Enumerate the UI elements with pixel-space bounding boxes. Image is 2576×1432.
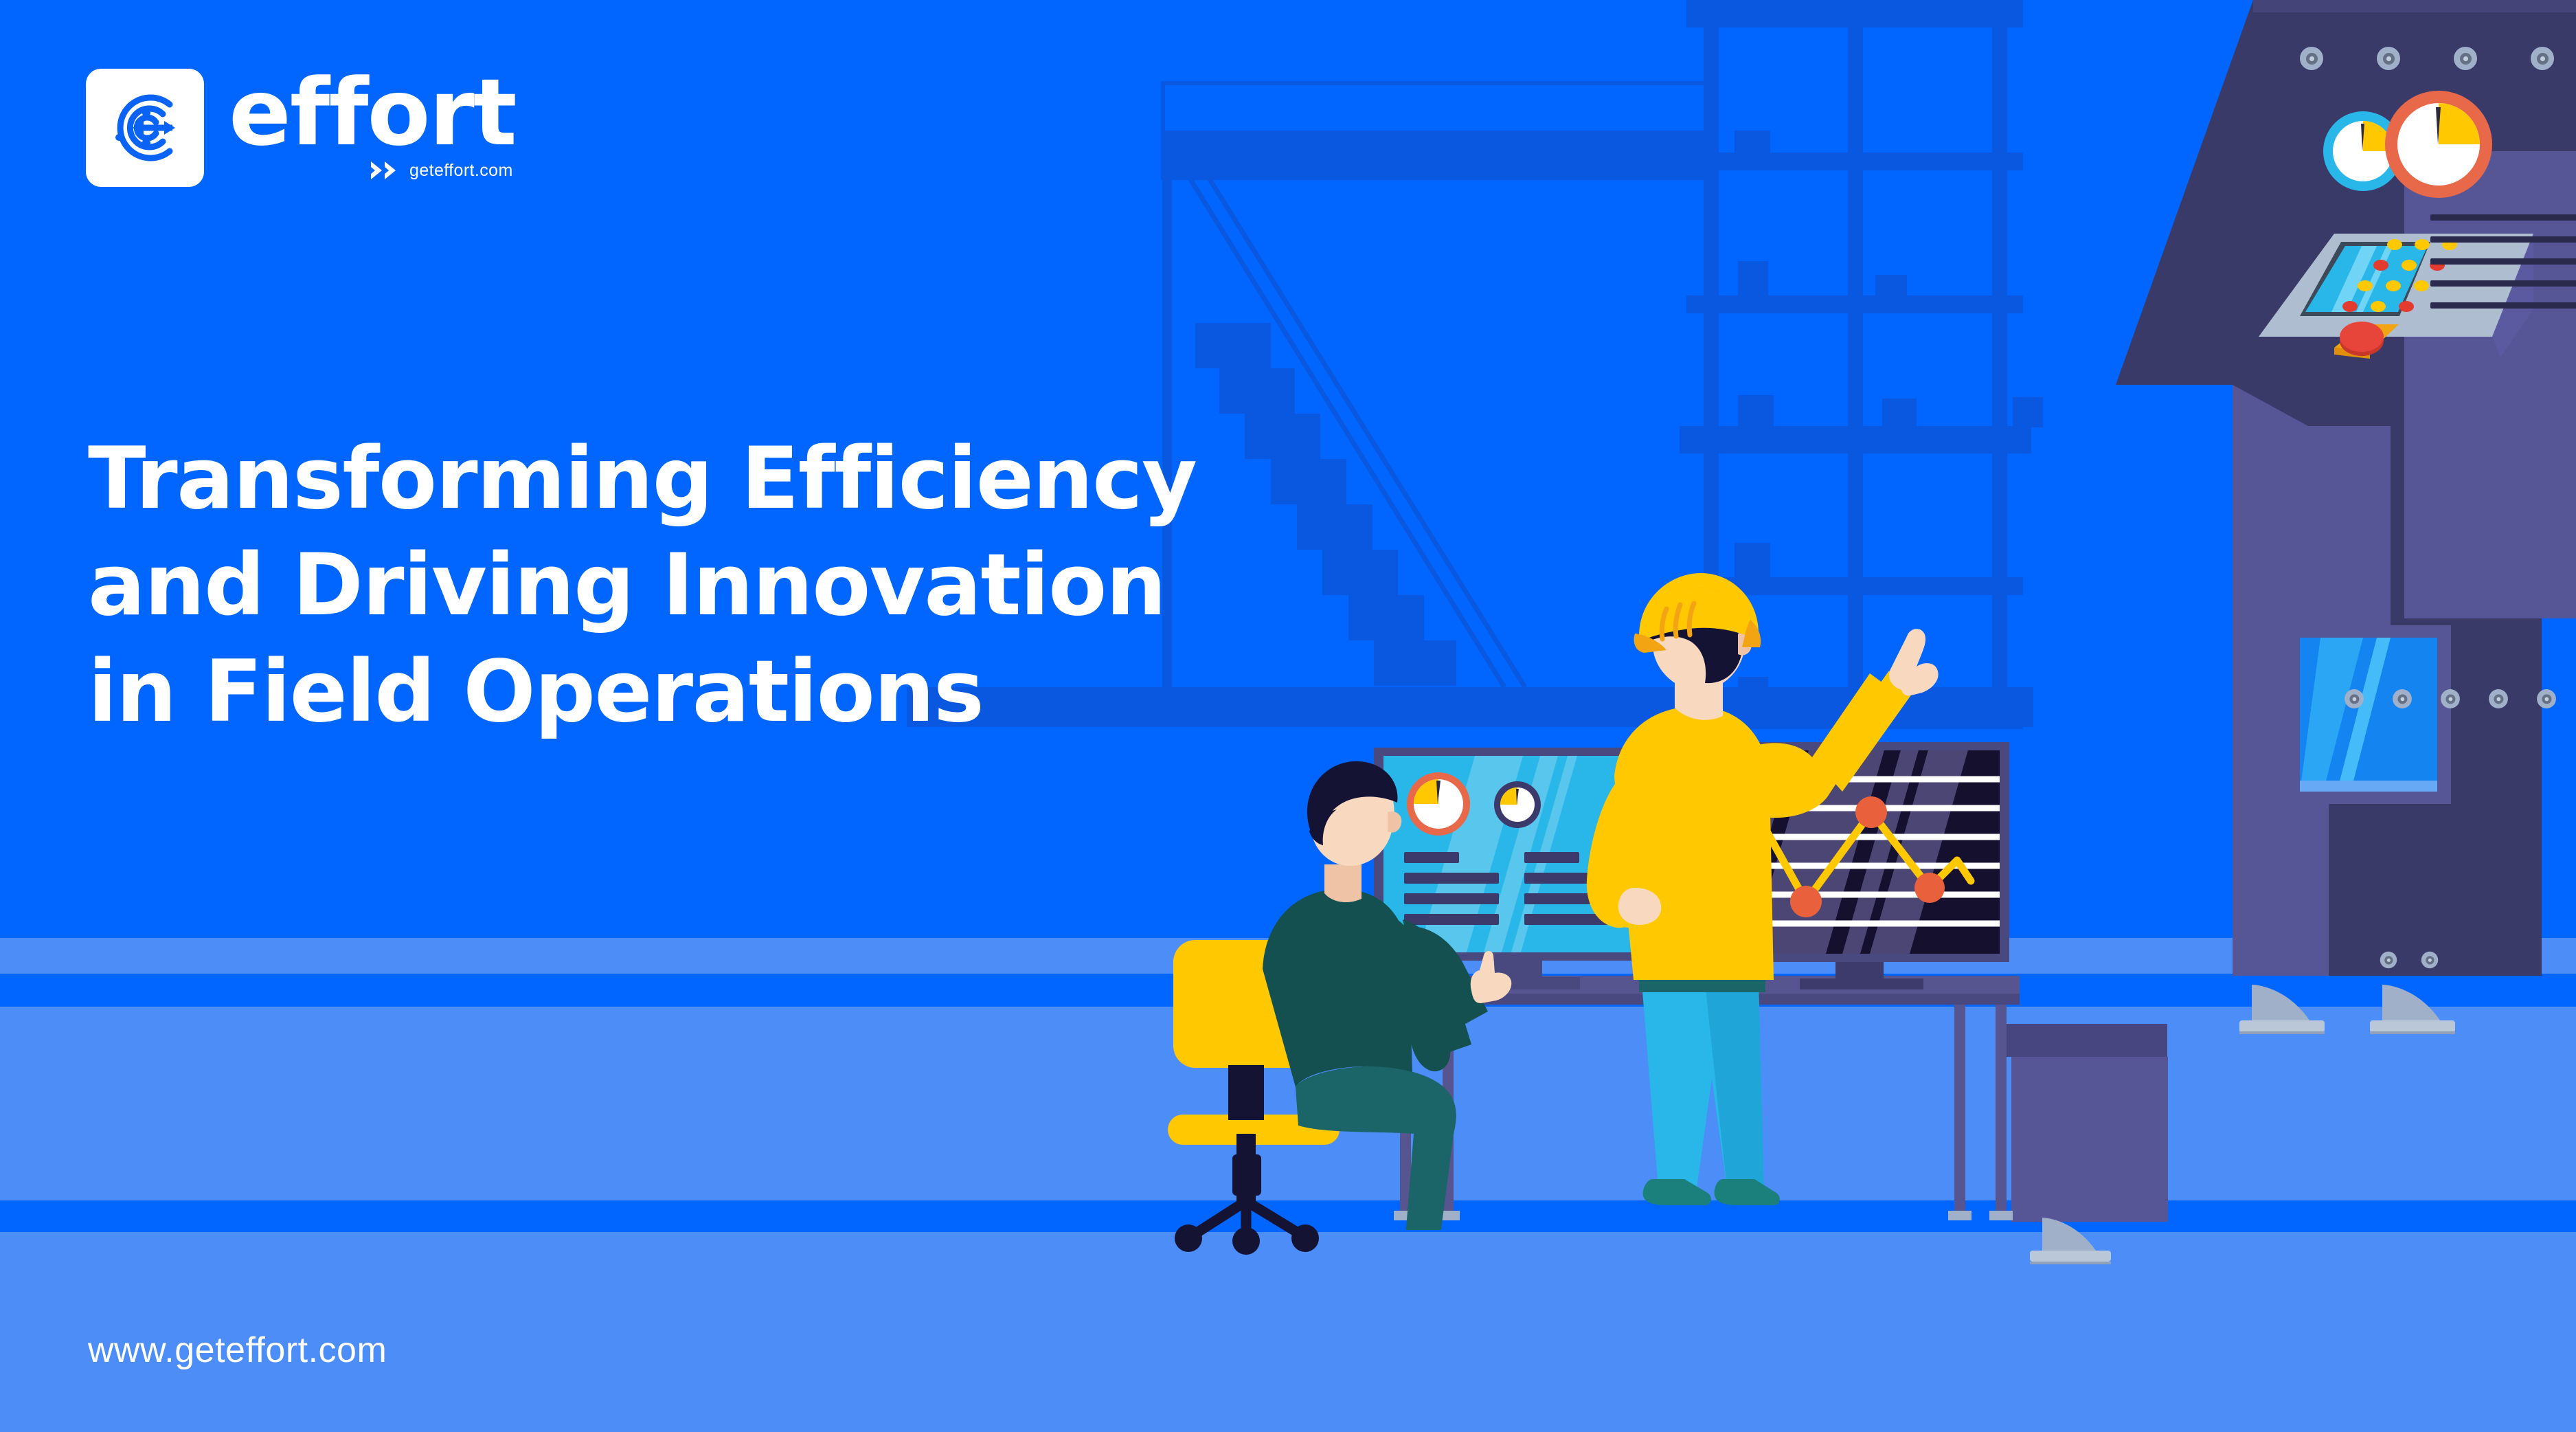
- rack-box-6: [2013, 397, 2043, 427]
- desk-foot: [1989, 1211, 2013, 1220]
- rivet-icon: [2380, 952, 2397, 968]
- machine-vent-line: [2430, 280, 2576, 287]
- logo-tagline-text: geteffort.com: [409, 161, 513, 181]
- machine-vent-line: [2430, 258, 2576, 265]
- rivet-icon: [2454, 47, 2477, 70]
- console-button-yellow[interactable]: [2387, 239, 2402, 250]
- footer-website-url[interactable]: www.geteffort.com: [88, 1330, 387, 1371]
- rack-box-5: [1882, 399, 1917, 427]
- brand-logo[interactable]: effort geteffort.com: [86, 69, 516, 187]
- rivet-icon: [2537, 689, 2556, 708]
- machine-vent-line: [2430, 302, 2576, 309]
- rivet-icon: [2489, 689, 2508, 708]
- effort-target-arrow-logo-icon: [104, 87, 186, 169]
- desk-leg: [1996, 1005, 2007, 1211]
- rivet-icon: [2421, 952, 2438, 968]
- headline-line-3: in Field Operations: [88, 639, 1393, 746]
- industrial-control-machine: [2102, 0, 2576, 1237]
- rack-shelf-4: [1680, 426, 2031, 454]
- machine-foot-left: [2239, 972, 2329, 1034]
- double-chevron-icon: [371, 161, 401, 179]
- headline-line-1: Transforming Efficiency: [88, 426, 1393, 533]
- console-button-red[interactable]: [2373, 260, 2388, 271]
- rivet-icon: [2345, 689, 2364, 708]
- console-button-red[interactable]: [2399, 301, 2414, 312]
- rivet-icon: [2377, 47, 2400, 70]
- rack-box-1: [1735, 131, 1770, 154]
- logo-tile: [86, 69, 204, 187]
- console-button-yellow[interactable]: [2414, 280, 2429, 291]
- machine-foot-right: [2370, 972, 2459, 1034]
- emergency-stop-button[interactable]: [2322, 316, 2404, 371]
- machine-cabinet-foot: [2030, 1209, 2119, 1264]
- rack-box-3: [1875, 275, 1907, 297]
- console-button-yellow[interactable]: [2415, 239, 2430, 250]
- machine-cabinet-body: [2011, 1057, 2168, 1222]
- console-button-red[interactable]: [2342, 301, 2358, 312]
- seated-analyst: [1161, 749, 1587, 1230]
- machine-vent-line: [2430, 236, 2576, 243]
- console-button-yellow[interactable]: [2371, 301, 2386, 312]
- standing-supervisor: [1532, 570, 1958, 1251]
- machine-gauge-orange: [2384, 89, 2494, 199]
- console-button-yellow[interactable]: [2402, 260, 2417, 271]
- page-title: Transforming Efficiency and Driving Inno…: [88, 426, 1393, 746]
- console-button-yellow[interactable]: [2386, 280, 2401, 291]
- rivet-icon: [2393, 689, 2412, 708]
- console-button-yellow[interactable]: [2358, 280, 2373, 291]
- stair-platform-rail: [1161, 81, 1165, 135]
- machine-window-glass: [2300, 638, 2437, 792]
- rack-shelf-2: [1686, 153, 2023, 170]
- rivet-icon: [2441, 689, 2460, 708]
- rivet-icon: [2531, 47, 2554, 70]
- rack-silhouette-column-right: [1992, 0, 2007, 728]
- rivet-icon: [2300, 47, 2323, 70]
- machine-vent-line: [2430, 214, 2576, 221]
- machine-cabinet-top: [2002, 1024, 2167, 1057]
- rack-shelf-3: [1686, 295, 2023, 313]
- headline-line-2: and Driving Innovation: [88, 533, 1393, 639]
- rack-box-2: [1738, 261, 1768, 297]
- wordmark: effort: [229, 70, 516, 157]
- stair-rail-top: [1161, 81, 1704, 85]
- rack-shelf-1: [1686, 0, 2023, 27]
- banner-canvas: effort geteffort.com Transforming Effici…: [0, 0, 2576, 1432]
- rack-box-4: [1738, 395, 1774, 427]
